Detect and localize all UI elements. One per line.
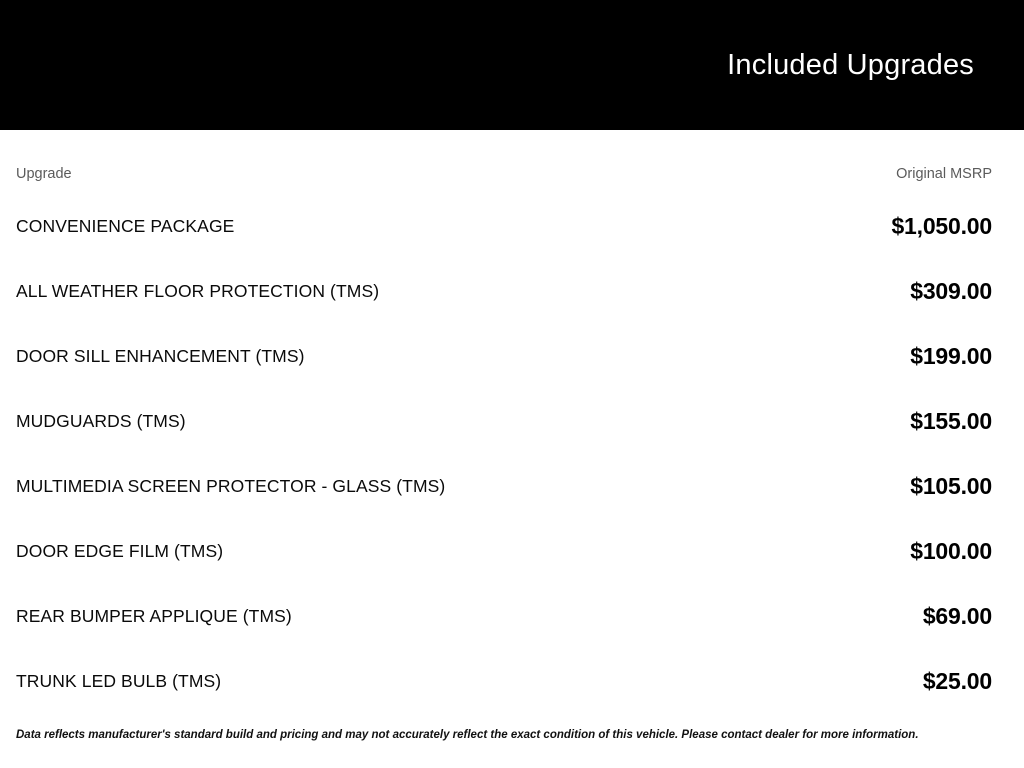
upgrade-name: MULTIMEDIA SCREEN PROTECTOR - GLASS (TMS… [16, 454, 719, 519]
page-header-banner: Included Upgrades [0, 0, 1024, 130]
column-header-original-msrp: Original MSRP [719, 130, 992, 194]
upgrade-price: $199.00 [719, 324, 992, 389]
upgrade-price: $155.00 [719, 389, 992, 454]
table-row: MUDGUARDS (TMS) $155.00 [16, 389, 992, 454]
upgrade-price: $1,050.00 [719, 194, 992, 259]
table-row: CONVENIENCE PACKAGE $1,050.00 [16, 194, 992, 259]
upgrade-name: TRUNK LED BULB (TMS) [16, 649, 719, 714]
table-body: CONVENIENCE PACKAGE $1,050.00 ALL WEATHE… [16, 194, 992, 714]
table-row: DOOR SILL ENHANCEMENT (TMS) $199.00 [16, 324, 992, 389]
upgrades-content: Upgrade Original MSRP CONVENIENCE PACKAG… [0, 130, 1024, 768]
table-row: MULTIMEDIA SCREEN PROTECTOR - GLASS (TMS… [16, 454, 992, 519]
upgrade-name: MUDGUARDS (TMS) [16, 389, 719, 454]
disclaimer-text: Data reflects manufacturer's standard bu… [16, 728, 992, 743]
upgrade-price: $69.00 [719, 584, 992, 649]
table-row: REAR BUMPER APPLIQUE (TMS) $69.00 [16, 584, 992, 649]
upgrade-price: $105.00 [719, 454, 992, 519]
table-row: ALL WEATHER FLOOR PROTECTION (TMS) $309.… [16, 259, 992, 324]
included-upgrades-table: Upgrade Original MSRP CONVENIENCE PACKAG… [16, 130, 992, 714]
upgrade-price: $309.00 [719, 259, 992, 324]
table-header: Upgrade Original MSRP [16, 130, 992, 194]
upgrade-price: $25.00 [719, 649, 992, 714]
table-header-row: Upgrade Original MSRP [16, 130, 992, 194]
upgrade-name: ALL WEATHER FLOOR PROTECTION (TMS) [16, 259, 719, 324]
table-row: DOOR EDGE FILM (TMS) $100.00 [16, 519, 992, 584]
upgrade-name: DOOR SILL ENHANCEMENT (TMS) [16, 324, 719, 389]
upgrade-name: CONVENIENCE PACKAGE [16, 194, 719, 259]
upgrade-name: REAR BUMPER APPLIQUE (TMS) [16, 584, 719, 649]
column-header-upgrade: Upgrade [16, 130, 719, 194]
upgrade-price: $100.00 [719, 519, 992, 584]
upgrade-name: DOOR EDGE FILM (TMS) [16, 519, 719, 584]
included-upgrades-page: Included Upgrades Upgrade Original MSRP … [0, 0, 1024, 768]
page-title: Included Upgrades [727, 51, 974, 80]
table-row: TRUNK LED BULB (TMS) $25.00 [16, 649, 992, 714]
